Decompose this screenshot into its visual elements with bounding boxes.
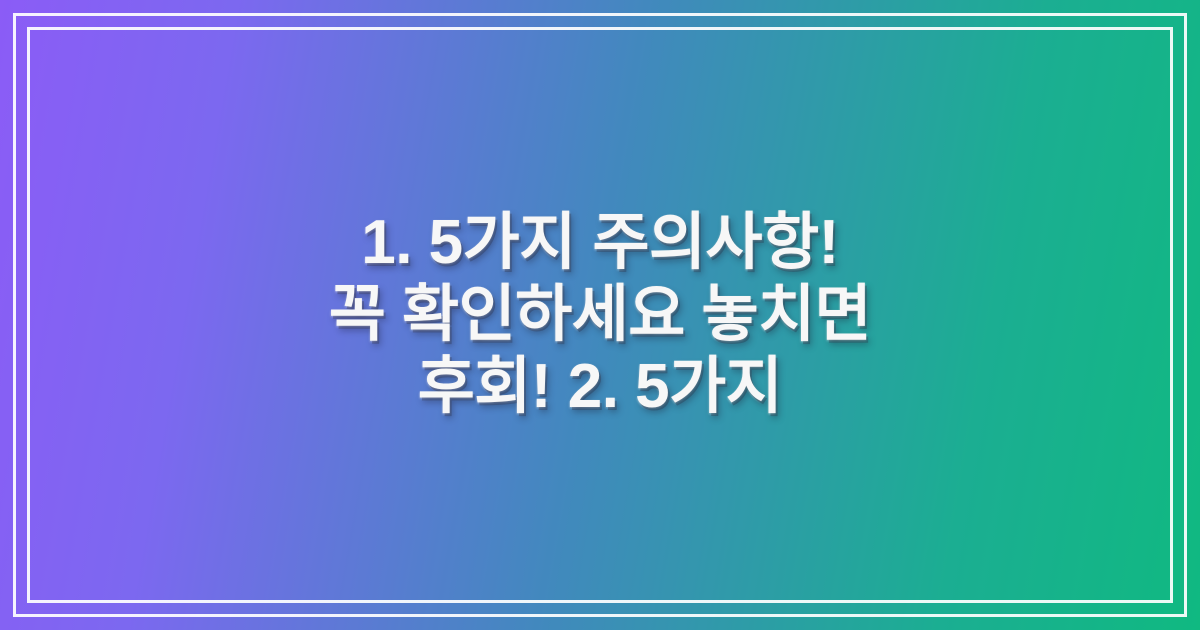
headline-line-2: 꼭 확인하세요 놓치면: [110, 279, 1090, 351]
headline-line-3: 후회! 2. 5가지: [110, 351, 1090, 423]
headline-line-1: 1. 5가지 주의사항!: [110, 207, 1090, 279]
headline-container: 1. 5가지 주의사항! 꼭 확인하세요 놓치면 후회! 2. 5가지: [0, 0, 1200, 630]
page-title: 1. 5가지 주의사항! 꼭 확인하세요 놓치면 후회! 2. 5가지: [110, 207, 1090, 423]
title-card: 1. 5가지 주의사항! 꼭 확인하세요 놓치면 후회! 2. 5가지: [0, 0, 1200, 630]
